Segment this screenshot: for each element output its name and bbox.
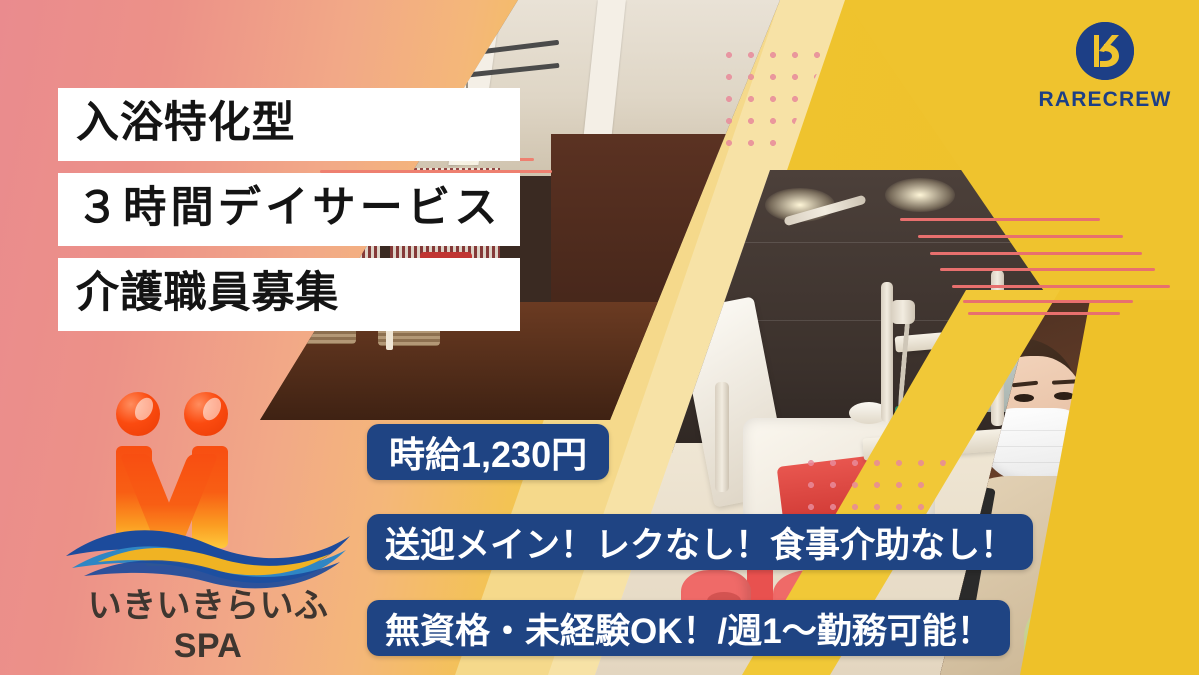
badge-hourly-wage[interactable]: 時給1,230円 — [367, 424, 609, 480]
badge-duties[interactable]: 送迎メイン！レクなし！食事介助なし！ — [367, 514, 1033, 570]
badge-conditions[interactable]: 無資格・未経験OK！/週1〜勤務可能！ — [367, 600, 1010, 656]
spa-logo-head-right — [184, 392, 228, 436]
rarecrew-monogram-icon — [1076, 22, 1134, 80]
bath-towel — [947, 346, 991, 372]
spa-logo-name: いきいきらいふSPA — [58, 578, 358, 666]
badge-conditions-label: 無資格・未経験OK！/週1〜勤務可能！ — [385, 603, 992, 654]
mask-pleat — [984, 462, 1092, 463]
bath-grab-bar — [715, 382, 729, 492]
company-logo[interactable]: RARECREW — [1025, 22, 1185, 112]
spa-logo-head-left — [116, 392, 160, 436]
headline-line-1: 入浴特化型 — [58, 88, 520, 161]
badge-duties-label: 送迎メイン！レクなし！食事介助なし！ — [385, 517, 1015, 568]
headline-line-2: ３時間デイサービス — [58, 173, 520, 246]
caregiver-sleeve — [1024, 590, 1174, 675]
rarecrew-wordmark: RARECREW — [1025, 88, 1185, 112]
headline-stack: 入浴特化型 ３時間デイサービス 介護職員募集 — [58, 88, 520, 343]
bath-grab-bar-vertical — [991, 270, 1004, 426]
recruitment-poster: 入浴特化型 ３時間デイサービス 介護職員募集 いきいきらいふSPA 時給1,23… — [0, 0, 1199, 675]
bath-shower-head — [891, 300, 915, 324]
bath-ceiling-light — [885, 178, 955, 212]
bath-bottle — [917, 408, 929, 438]
rarecrew-mark-icon — [1076, 22, 1134, 80]
mask-pleat — [984, 446, 1092, 447]
caregiver-eye — [1014, 394, 1034, 402]
spa-logo: いきいきらいふSPA — [58, 392, 358, 642]
headline-line-3: 介護職員募集 — [58, 258, 520, 331]
badge-hourly-wage-label: 時給1,230円 — [389, 426, 587, 478]
caregiver-eye — [1054, 392, 1074, 400]
